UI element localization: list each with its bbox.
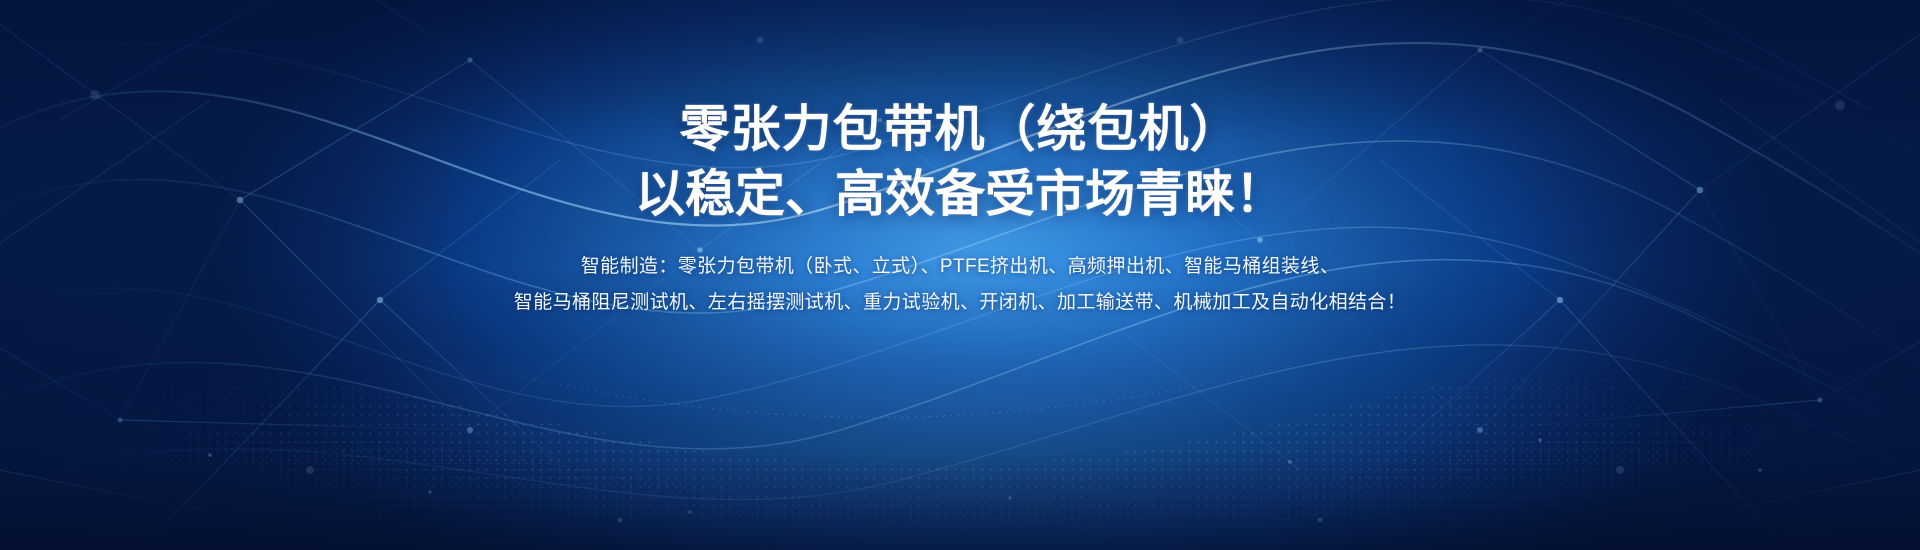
hero-banner: 零张力包带机（绕包机） 以稳定、高效备受市场青睐！ 智能制造：零张力包带机（卧式…: [0, 0, 1920, 550]
subtitle-line-2: 智能马桶阻尼测试机、左右摇摆测试机、重力试验机、开闭机、加工输送带、机械加工及自…: [514, 285, 1406, 321]
headline-line-2: 以稳定、高效备受市场青睐！: [635, 165, 1285, 223]
banner-content: 零张力包带机（绕包机） 以稳定、高效备受市场青睐！ 智能制造：零张力包带机（卧式…: [0, 0, 1920, 550]
subtitle-line-1: 智能制造：零张力包带机（卧式、立式）、PTFE挤出机、高频押出机、智能马桶组装线…: [514, 249, 1406, 285]
headline-line-1: 零张力包带机（绕包机）: [680, 100, 1241, 158]
subtitle-block: 智能制造：零张力包带机（卧式、立式）、PTFE挤出机、高频押出机、智能马桶组装线…: [514, 249, 1406, 321]
